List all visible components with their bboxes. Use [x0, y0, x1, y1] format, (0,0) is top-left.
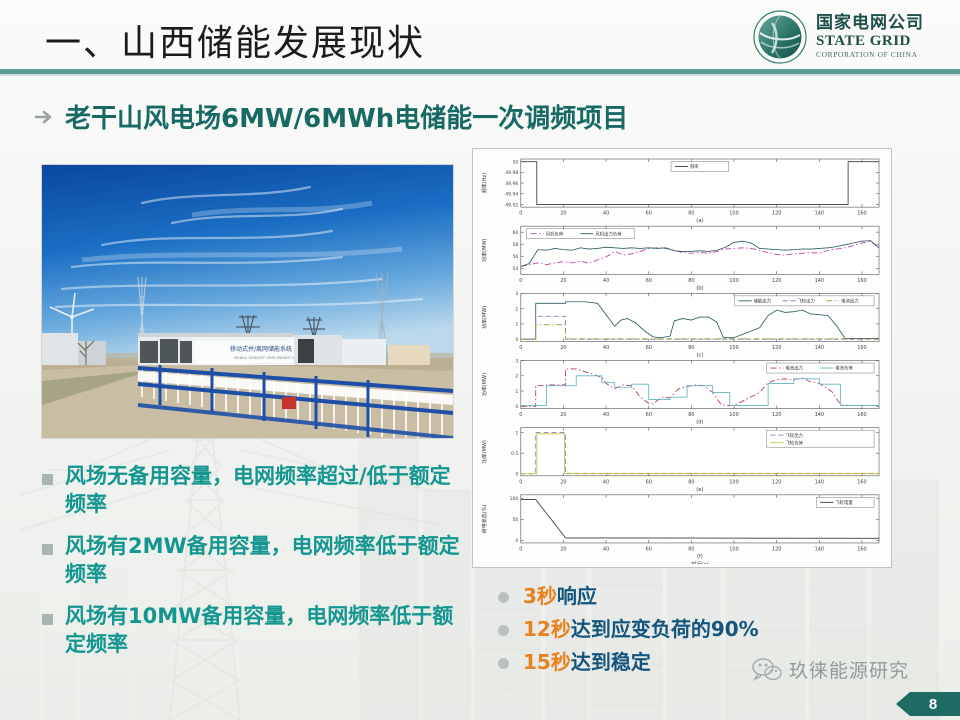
svg-text:飞轮负荷: 飞轮负荷 [785, 439, 803, 446]
svg-text:60: 60 [646, 546, 652, 552]
svg-text:50: 50 [512, 159, 518, 165]
svg-text:(b): (b) [696, 285, 703, 291]
chart-panel-a: 02040608010012014016049.9249.9449.9649.9… [481, 159, 879, 224]
state-grid-logo-text: 国家电网公司 STATE GRID CORPORATION OF CHINA [816, 15, 924, 59]
legend-box [767, 363, 874, 373]
logo-text-sub: CORPORATION OF CHINA [816, 51, 924, 59]
round-bullet-icon [498, 625, 509, 636]
right-bullet-number: 3秒 [523, 584, 557, 608]
svg-text:100: 100 [729, 278, 738, 284]
logo-text-cn: 国家电网公司 [816, 15, 924, 32]
svg-text:风机出力负荷: 风机出力负荷 [595, 230, 622, 237]
state-grid-logo: 国家电网公司 STATE GRID CORPORATION OF CHINA [752, 8, 948, 66]
right-bullet-text: 3秒响应 [523, 583, 597, 609]
multi-panel-line-chart: 02040608010012014016049.9249.9449.9649.9… [477, 153, 885, 564]
section-subtitle-text: 老干山风电场6MW/6MWh电储能一次调频项目 [65, 98, 628, 135]
slide-header: 一、山西储能发展现状 [0, 0, 960, 78]
svg-text:120: 120 [772, 278, 781, 284]
svg-text:0.5: 0.5 [511, 451, 518, 457]
svg-text:160: 160 [857, 211, 866, 217]
svg-text:功率(MW): 功率(MW) [481, 440, 488, 463]
svg-text:电池出力: 电池出力 [785, 365, 802, 372]
svg-text:0: 0 [519, 278, 522, 284]
page-number: 8 [919, 696, 937, 713]
site-photo-illustration: 移动式并/离网储能系统 MOBILE GRID/OFF-GRID ENERGY … [42, 165, 453, 438]
svg-text:功率(MW): 功率(MW) [481, 306, 488, 329]
svg-text:(d): (d) [696, 420, 703, 426]
svg-text:40: 40 [603, 479, 609, 485]
svg-text:0: 0 [519, 345, 522, 351]
svg-text:0: 0 [515, 337, 518, 343]
slide-canvas: 一、山西储能发展现状 [0, 0, 960, 720]
svg-text:(c): (c) [696, 352, 703, 358]
list-item: 3秒响应 [498, 583, 918, 609]
chart-panel-e: 02040608010012014016000.51功率(MW)飞轮出力飞轮负荷… [481, 428, 879, 493]
svg-text:时间(s): 时间(s) [691, 560, 708, 564]
svg-text:40: 40 [603, 412, 609, 418]
svg-text:飞轮出力: 飞轮出力 [797, 298, 814, 305]
svg-text:140: 140 [815, 211, 824, 217]
svg-text:140: 140 [815, 479, 824, 485]
svg-text:120: 120 [772, 345, 781, 351]
svg-text:频率(Hz): 频率(Hz) [481, 173, 488, 193]
svg-text:80: 80 [688, 479, 694, 485]
svg-text:100: 100 [729, 479, 738, 485]
svg-text:60: 60 [646, 278, 652, 284]
svg-text:(f): (f) [697, 554, 703, 560]
svg-text:电池负荷: 电池负荷 [835, 365, 853, 372]
header-divider-secondary [0, 74, 960, 76]
list-item: 12秒达到应变负荷的90% [498, 616, 918, 642]
svg-text:58: 58 [512, 242, 518, 248]
svg-text:120: 120 [772, 412, 781, 418]
svg-text:160: 160 [857, 278, 866, 284]
svg-text:3: 3 [515, 291, 518, 297]
logo-text-en: STATE GRID [816, 34, 924, 49]
simulation-chart-figure: 02040608010012014016049.9249.9449.9649.9… [472, 148, 892, 568]
svg-text:50: 50 [512, 517, 518, 523]
svg-text:20: 20 [560, 211, 566, 217]
svg-text:160: 160 [857, 479, 866, 485]
right-bullet-rest: 达到应变负荷的90% [571, 617, 759, 641]
svg-text:140: 140 [815, 412, 824, 418]
svg-text:储能出力: 储能出力 [754, 298, 771, 305]
arrow-right-icon [34, 106, 56, 128]
svg-text:80: 80 [688, 345, 694, 351]
svg-text:0: 0 [519, 412, 522, 418]
right-bullet-number: 12秒 [523, 617, 571, 641]
svg-text:140: 140 [815, 345, 824, 351]
page-number-badge: 8 [896, 692, 960, 716]
svg-text:120: 120 [772, 546, 781, 552]
state-grid-globe-svg [752, 9, 808, 65]
list-item: 风场有2MW备用容量，电网频率低于额定频率 [42, 533, 462, 589]
svg-text:80: 80 [688, 412, 694, 418]
watermark-text: 玖徕能源研究 [789, 656, 909, 683]
svg-text:(a): (a) [696, 218, 703, 224]
svg-text:49.92: 49.92 [505, 202, 518, 208]
svg-text:功率(MW): 功率(MW) [481, 373, 488, 396]
svg-text:40: 40 [603, 211, 609, 217]
svg-text:飞轮电量: 飞轮电量 [835, 499, 853, 506]
svg-text:0: 0 [519, 211, 522, 217]
svg-text:40: 40 [603, 546, 609, 552]
section-subtitle: 老干山风电场6MW/6MWh电储能一次调频项目 [34, 98, 628, 135]
svg-text:80: 80 [688, 546, 694, 552]
svg-text:120: 120 [772, 479, 781, 485]
wechat-icon [752, 657, 782, 683]
svg-text:160: 160 [857, 345, 866, 351]
svg-text:1: 1 [515, 322, 518, 328]
legend-box [767, 430, 874, 447]
svg-text:20: 20 [560, 479, 566, 485]
left-bullet-text: 风场有2MW备用容量，电网频率低于额定频率 [65, 533, 462, 589]
svg-text:电池出力: 电池出力 [841, 298, 858, 305]
wechat-watermark: 玖徕能源研究 [752, 656, 909, 683]
left-bullet-text: 风场有10MW备用容量，电网频率低于额定频率 [65, 603, 462, 659]
svg-text:160: 160 [857, 412, 866, 418]
round-bullet-icon [498, 592, 509, 603]
svg-text:0: 0 [515, 404, 518, 410]
svg-text:60: 60 [512, 230, 518, 236]
state-grid-globe-icon [752, 9, 808, 65]
svg-text:60: 60 [646, 211, 652, 217]
svg-text:49.98: 49.98 [505, 170, 518, 176]
svg-text:54: 54 [512, 266, 518, 272]
svg-text:100: 100 [729, 345, 738, 351]
chart-panel-d: 0204060801001201401600123功率(MW)电池出力电池负荷(… [481, 358, 879, 425]
svg-text:荷电状态(%): 荷电状态(%) [481, 505, 488, 534]
svg-text:20: 20 [560, 412, 566, 418]
svg-text:40: 40 [603, 345, 609, 351]
svg-text:100: 100 [729, 211, 738, 217]
svg-text:3: 3 [515, 358, 518, 364]
site-photo: 移动式并/离网储能系统 MOBILE GRID/OFF-GRID ENERGY … [41, 164, 454, 439]
svg-text:0: 0 [515, 538, 518, 544]
svg-text:20: 20 [560, 278, 566, 284]
list-item: 风场无备用容量，电网频率超过/低于额定频率 [42, 463, 462, 519]
svg-text:频率: 频率 [690, 163, 699, 170]
square-bullet-icon [42, 614, 53, 625]
svg-text:60: 60 [646, 412, 652, 418]
square-bullet-icon [42, 544, 53, 555]
svg-text:60: 60 [646, 345, 652, 351]
round-bullet-icon [498, 658, 509, 669]
svg-text:120: 120 [772, 211, 781, 217]
svg-text:140: 140 [815, 278, 824, 284]
svg-text:0: 0 [515, 472, 518, 478]
svg-text:60: 60 [646, 479, 652, 485]
right-bullet-text: 15秒达到稳定 [523, 649, 651, 675]
svg-text:1: 1 [515, 430, 518, 436]
svg-text:56: 56 [512, 254, 518, 260]
chart-panel-c: 0204060801001201401600123功率(MW)储能出力飞轮出力电… [481, 291, 879, 358]
svg-text:移动式并/离网储能系统: 移动式并/离网储能系统 [230, 345, 292, 353]
svg-text:140: 140 [815, 546, 824, 552]
svg-text:100: 100 [510, 496, 519, 502]
right-bullet-number: 15秒 [523, 650, 571, 674]
svg-text:160: 160 [857, 546, 866, 552]
svg-text:100: 100 [729, 412, 738, 418]
svg-text:2: 2 [515, 374, 518, 380]
square-bullet-icon [42, 474, 53, 485]
svg-text:20: 20 [560, 345, 566, 351]
chart-panel-f: 020406080100120140160050100荷电状态(%)飞轮电量(f… [481, 495, 879, 564]
svg-text:80: 80 [688, 278, 694, 284]
svg-text:0: 0 [519, 546, 522, 552]
svg-text:0: 0 [519, 479, 522, 485]
svg-text:100: 100 [729, 546, 738, 552]
right-bullet-text: 12秒达到应变负荷的90% [523, 616, 759, 642]
right-bullet-rest: 响应 [557, 584, 597, 608]
svg-text:80: 80 [688, 211, 694, 217]
svg-text:风机负荷: 风机负荷 [546, 230, 564, 237]
list-item: 风场有10MW备用容量，电网频率低于额定频率 [42, 603, 462, 659]
svg-text:49.94: 49.94 [505, 192, 518, 198]
svg-text:20: 20 [560, 546, 566, 552]
svg-text:40: 40 [603, 278, 609, 284]
left-bullet-text: 风场无备用容量，电网频率超过/低于额定频率 [65, 463, 462, 519]
left-bullet-list: 风场无备用容量，电网频率超过/低于额定频率 风场有2MW备用容量，电网频率低于额… [42, 463, 462, 673]
svg-text:1: 1 [515, 389, 518, 395]
svg-text:49.96: 49.96 [505, 181, 518, 187]
svg-text:飞轮出力: 飞轮出力 [785, 432, 802, 439]
right-bullet-rest: 达到稳定 [571, 650, 651, 674]
svg-text:2: 2 [515, 306, 518, 312]
page-title: 一、山西储能发展现状 [45, 14, 425, 66]
svg-text:(e): (e) [696, 487, 703, 493]
svg-text:功率(MW): 功率(MW) [481, 239, 488, 262]
chart-panel-b: 02040608010012014016054565860功率(MW)风机负荷风… [481, 226, 879, 291]
